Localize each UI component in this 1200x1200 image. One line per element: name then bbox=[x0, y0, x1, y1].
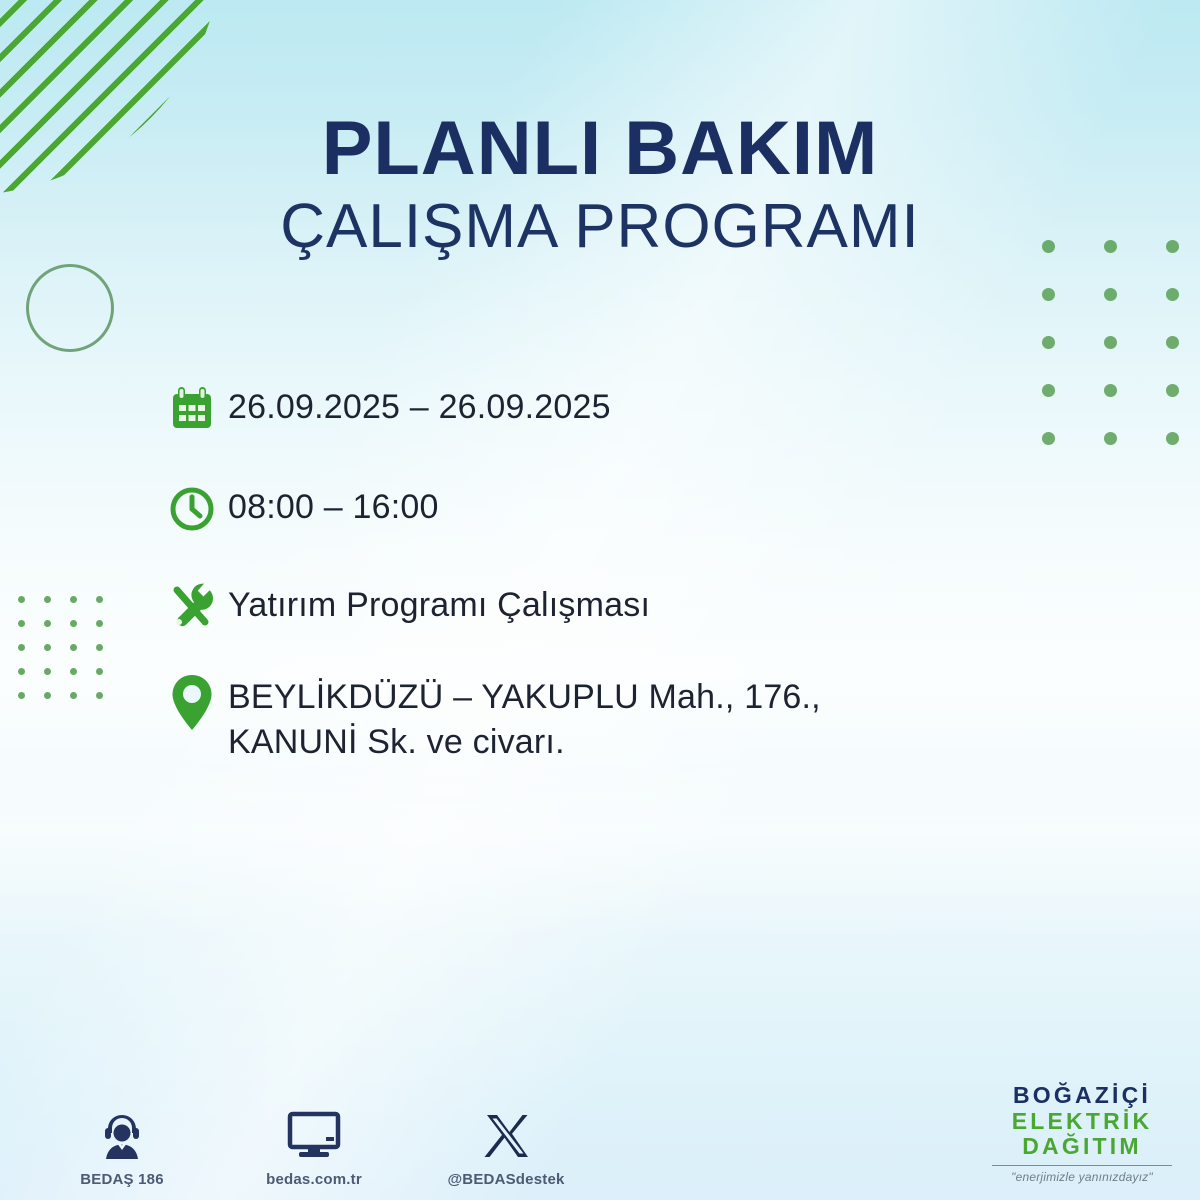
location-value: BEYLİKDÜZÜ – YAKUPLU Mah., 176., KANUNİ … bbox=[228, 670, 928, 765]
page-title: PLANLI BAKIM bbox=[0, 110, 1200, 188]
dot-grid-left-decoration bbox=[18, 596, 122, 716]
circle-outline-decoration bbox=[26, 264, 114, 352]
brand-line-dagitim: DAĞITIM bbox=[982, 1134, 1182, 1160]
brand-divider bbox=[992, 1165, 1172, 1166]
time-range-value: 08:00 – 16:00 bbox=[228, 480, 439, 530]
contact-label: BEDAŞ 186 bbox=[58, 1171, 186, 1188]
bedas-logo: BOĞAZİÇİ ELEKTRİK DAĞITIM "enerjimizle y… bbox=[982, 1083, 1182, 1184]
location-pin-icon bbox=[166, 670, 228, 728]
info-row-time: 08:00 – 16:00 bbox=[166, 480, 1026, 538]
page-subtitle: ÇALIŞMA PROGRAMI bbox=[0, 194, 1200, 259]
brand-line-elektrik: ELEKTRİK bbox=[982, 1109, 1182, 1135]
contact-channels: BEDAŞ 186 bedas.com.tr bbox=[58, 1103, 570, 1188]
x-twitter-icon bbox=[442, 1103, 570, 1161]
brand-slogan: "enerjimizle yanınızdayız" bbox=[982, 1170, 1182, 1184]
monitor-icon bbox=[250, 1103, 378, 1161]
contact-label: @BEDASdestek bbox=[442, 1171, 570, 1188]
contact-website[interactable]: bedas.com.tr bbox=[250, 1103, 378, 1188]
clock-icon bbox=[166, 480, 228, 538]
work-type-value: Yatırım Programı Çalışması bbox=[228, 578, 650, 628]
calendar-icon bbox=[166, 380, 228, 438]
brand-line-bogazici: BOĞAZİÇİ bbox=[982, 1083, 1182, 1109]
tools-icon bbox=[166, 578, 228, 636]
info-row-location: BEYLİKDÜZÜ – YAKUPLU Mah., 176., KANUNİ … bbox=[166, 670, 1026, 765]
poster-heading-block: PLANLI BAKIM ÇALIŞMA PROGRAMI bbox=[0, 110, 1200, 259]
info-row-date: 26.09.2025 – 26.09.2025 bbox=[166, 380, 1026, 438]
date-range-value: 26.09.2025 – 26.09.2025 bbox=[228, 380, 611, 430]
info-list: 26.09.2025 – 26.09.2025 08:00 – 16:00 bbox=[166, 380, 1026, 793]
contact-call-center[interactable]: BEDAŞ 186 bbox=[58, 1103, 186, 1188]
contact-label: bedas.com.tr bbox=[250, 1171, 378, 1188]
contact-x-twitter[interactable]: @BEDASdestek bbox=[442, 1103, 570, 1188]
dot-grid-right-decoration bbox=[1042, 240, 1200, 480]
info-row-work-type: Yatırım Programı Çalışması bbox=[166, 578, 1026, 636]
footer: BEDAŞ 186 bedas.com.tr bbox=[0, 1060, 1200, 1200]
poster-canvas: PLANLI BAKIM ÇALIŞMA PROGRAMI bbox=[0, 0, 1200, 1200]
call-center-agent-icon bbox=[58, 1103, 186, 1161]
